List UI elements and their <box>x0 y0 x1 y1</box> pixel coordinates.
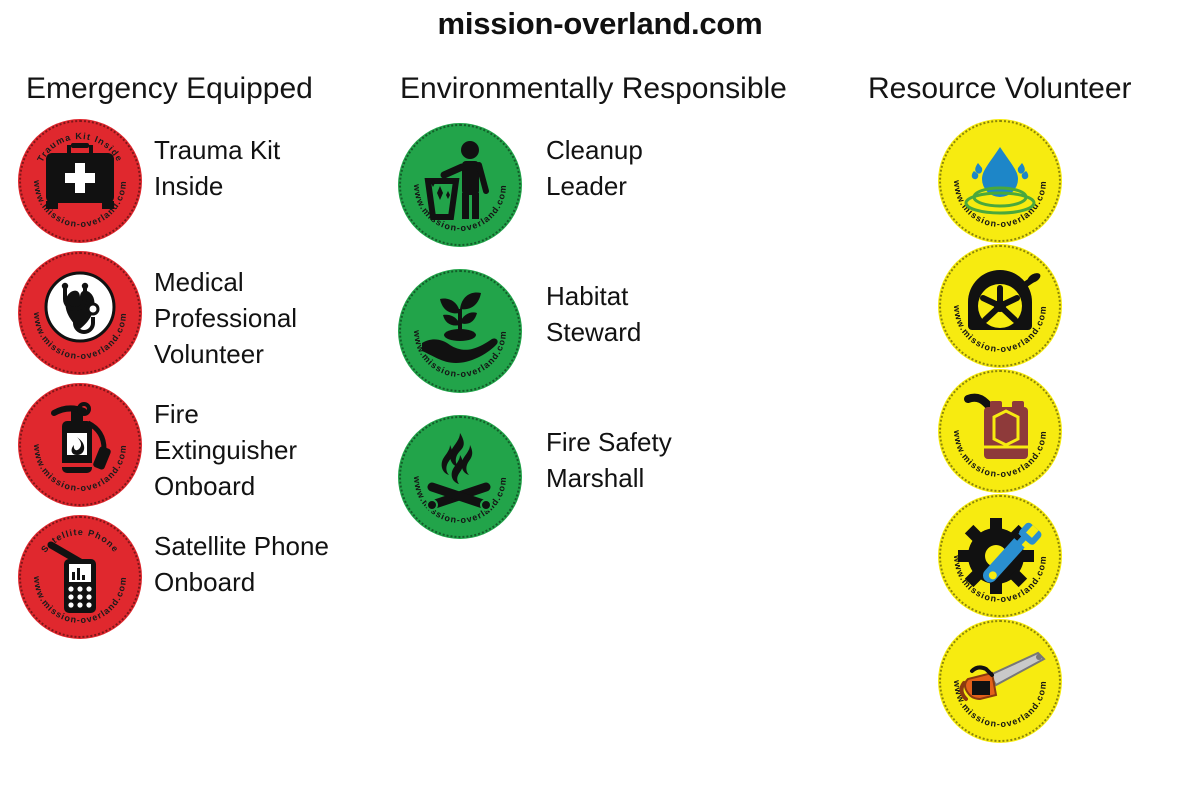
badge-list-environment: www.mission-overland.com <box>398 123 858 539</box>
badge-fuel-resource[interactable]: www.mission-overland.com <box>938 369 1062 493</box>
badge-label: Medical Professional Volunteer <box>142 251 297 373</box>
badge-habitat-steward[interactable]: www.mission-overland.com <box>398 269 522 393</box>
badge-fire-extinguisher[interactable]: www.mission-overland.com <box>18 383 142 507</box>
badge-label: Satellite Phone Onboard <box>142 515 329 601</box>
column-heading-emergency: Emergency Equipped <box>18 72 398 105</box>
badge-row[interactable]: www.mission-overland.com <box>938 244 1190 368</box>
badge-label-line: Extinguisher <box>154 433 297 469</box>
badge-label-line: Onboard <box>154 565 329 601</box>
badge-label-line: Fire <box>154 397 297 433</box>
satellite-phone-icon <box>18 515 142 639</box>
badge-label-line: Habitat <box>546 279 641 315</box>
badge-row[interactable]: www.mission-overland.com <box>398 415 858 539</box>
badge-row[interactable]: www.mission-overland.com Habitat <box>398 269 858 393</box>
gear-wrench-icon <box>938 494 1062 618</box>
badge-row[interactable]: www.mission-overland.com <box>938 119 1190 243</box>
badge-row[interactable]: Trauma Kit Inside www.mission-overland.c… <box>18 119 398 243</box>
badge-row[interactable]: Satellite Phone www.mission-overland.com <box>18 515 398 639</box>
chainsaw-icon <box>938 619 1062 743</box>
badge-label: Cleanup Leader <box>522 123 643 205</box>
badge-label-line: Onboard <box>154 469 297 505</box>
stethoscope-heart-icon <box>18 251 142 375</box>
water-drop-icon <box>938 119 1062 243</box>
badge-label-line: Trauma Kit <box>154 133 280 169</box>
badge-row[interactable]: www.mission-overland.com <box>938 619 1190 743</box>
column-emergency-equipped: Emergency Equipped Trauma Kit Inside www… <box>18 72 398 647</box>
badge-label-line: Fire Safety <box>546 425 672 461</box>
badge-label-line: Steward <box>546 315 641 351</box>
badge-row[interactable]: www.mission-overland.com <box>398 123 858 247</box>
badge-label-line: Volunteer <box>154 337 297 373</box>
badge-row[interactable]: www.mission-overland.com <box>938 494 1190 618</box>
badge-tire-repair[interactable]: www.mission-overland.com <box>938 244 1062 368</box>
jerry-can-icon <box>938 369 1062 493</box>
column-heading-resource: Resource Volunteer <box>860 72 1190 105</box>
badge-medical-professional[interactable]: www.mission-overland.com <box>18 251 142 375</box>
badge-mechanic-resource[interactable]: www.mission-overland.com <box>938 494 1062 618</box>
column-resource-volunteer: Resource Volunteer www.mission-overland.… <box>860 72 1190 751</box>
campfire-icon <box>398 415 522 539</box>
badge-row[interactable]: www.mission-overland.com <box>938 369 1190 493</box>
badge-satellite-phone[interactable]: Satellite Phone www.mission-overland.com <box>18 515 142 639</box>
badge-list-resource: www.mission-overland.com <box>860 119 1190 743</box>
badge-label-line: Medical <box>154 265 297 301</box>
page-title: mission-overland.com <box>0 6 1200 42</box>
medical-kit-icon <box>18 119 142 243</box>
fire-extinguisher-icon <box>18 383 142 507</box>
badge-label: Trauma Kit Inside <box>142 119 280 205</box>
badge-cleanup-leader[interactable]: www.mission-overland.com <box>398 123 522 247</box>
badge-fire-safety-marshall[interactable]: www.mission-overland.com <box>398 415 522 539</box>
badge-label: Fire Extinguisher Onboard <box>142 383 297 505</box>
badge-label-line: Leader <box>546 169 643 205</box>
badge-label: Habitat Steward <box>522 269 641 351</box>
hand-sprout-icon <box>398 269 522 393</box>
badge-label-line: Satellite Phone <box>154 529 329 565</box>
badge-label: Fire Safety Marshall <box>522 415 672 497</box>
flat-tire-icon <box>938 244 1062 368</box>
badge-label-line: Inside <box>154 169 280 205</box>
badge-list-emergency: Trauma Kit Inside www.mission-overland.c… <box>18 119 398 639</box>
badge-label-line: Professional <box>154 301 297 337</box>
badge-sheet: mission-overland.com Emergency Equipped … <box>0 0 1200 800</box>
badge-chainsaw-resource[interactable]: www.mission-overland.com <box>938 619 1062 743</box>
badge-row[interactable]: www.mission-overland.com <box>18 383 398 507</box>
litter-bin-person-icon <box>398 123 522 247</box>
column-heading-environment: Environmentally Responsible <box>398 72 858 105</box>
badge-label-line: Cleanup <box>546 133 643 169</box>
badge-row[interactable]: www.mission-overland.com Medical <box>18 251 398 375</box>
badge-water-resource[interactable]: www.mission-overland.com <box>938 119 1062 243</box>
column-environmentally-responsible: Environmentally Responsible www.mission-… <box>398 72 858 547</box>
badge-label-line: Marshall <box>546 461 672 497</box>
badge-trauma-kit[interactable]: Trauma Kit Inside www.mission-overland.c… <box>18 119 142 243</box>
